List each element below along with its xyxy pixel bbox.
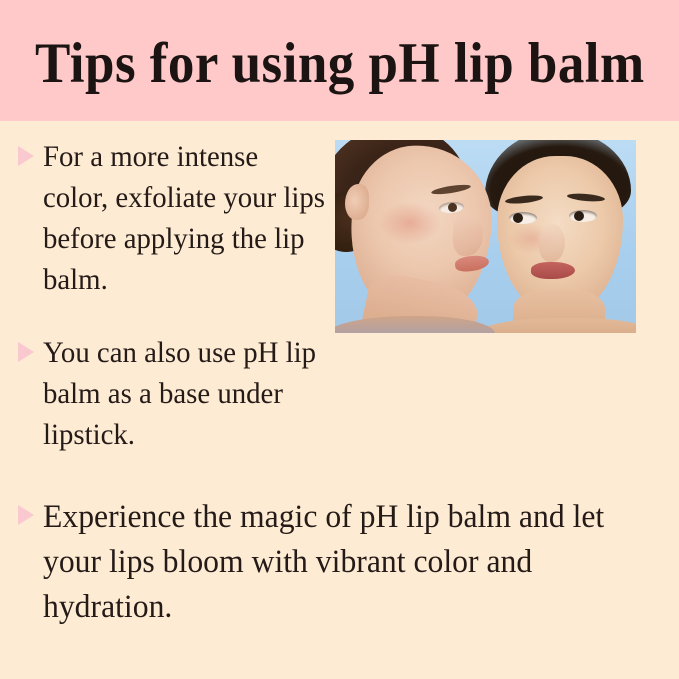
right-model-eye-left <box>509 212 537 224</box>
tip-item-1-text: For a more intense color, exfoliate your… <box>43 136 326 300</box>
left-model-ear <box>345 184 369 220</box>
models-photo <box>335 140 636 333</box>
tip-item-3: Experience the magic of pH lip balm and … <box>18 495 643 630</box>
photo-backdrop <box>335 140 636 333</box>
tip-item-2-text: You can also use pH lip balm as a base u… <box>43 332 326 455</box>
right-model-lips <box>531 262 575 279</box>
right-model-nose <box>539 224 565 262</box>
page-title: Tips for using pH lip balm <box>35 29 645 92</box>
triangle-right-bullet-icon <box>18 505 34 525</box>
triangle-right-bullet-icon <box>18 342 34 362</box>
poster-root: Tips for using pH lip balm For a more in… <box>0 0 679 679</box>
right-model-shoulder <box>477 318 636 333</box>
tip-item-1: For a more intense color, exfoliate your… <box>18 136 338 300</box>
header-band: Tips for using pH lip balm <box>0 0 679 121</box>
right-model-eye-right <box>569 210 597 222</box>
tip-item-3-text: Experience the magic of pH lip balm and … <box>43 495 619 630</box>
left-model-cheek <box>379 202 441 244</box>
tip-item-2: You can also use pH lip balm as a base u… <box>18 332 338 455</box>
triangle-right-bullet-icon <box>18 146 34 166</box>
